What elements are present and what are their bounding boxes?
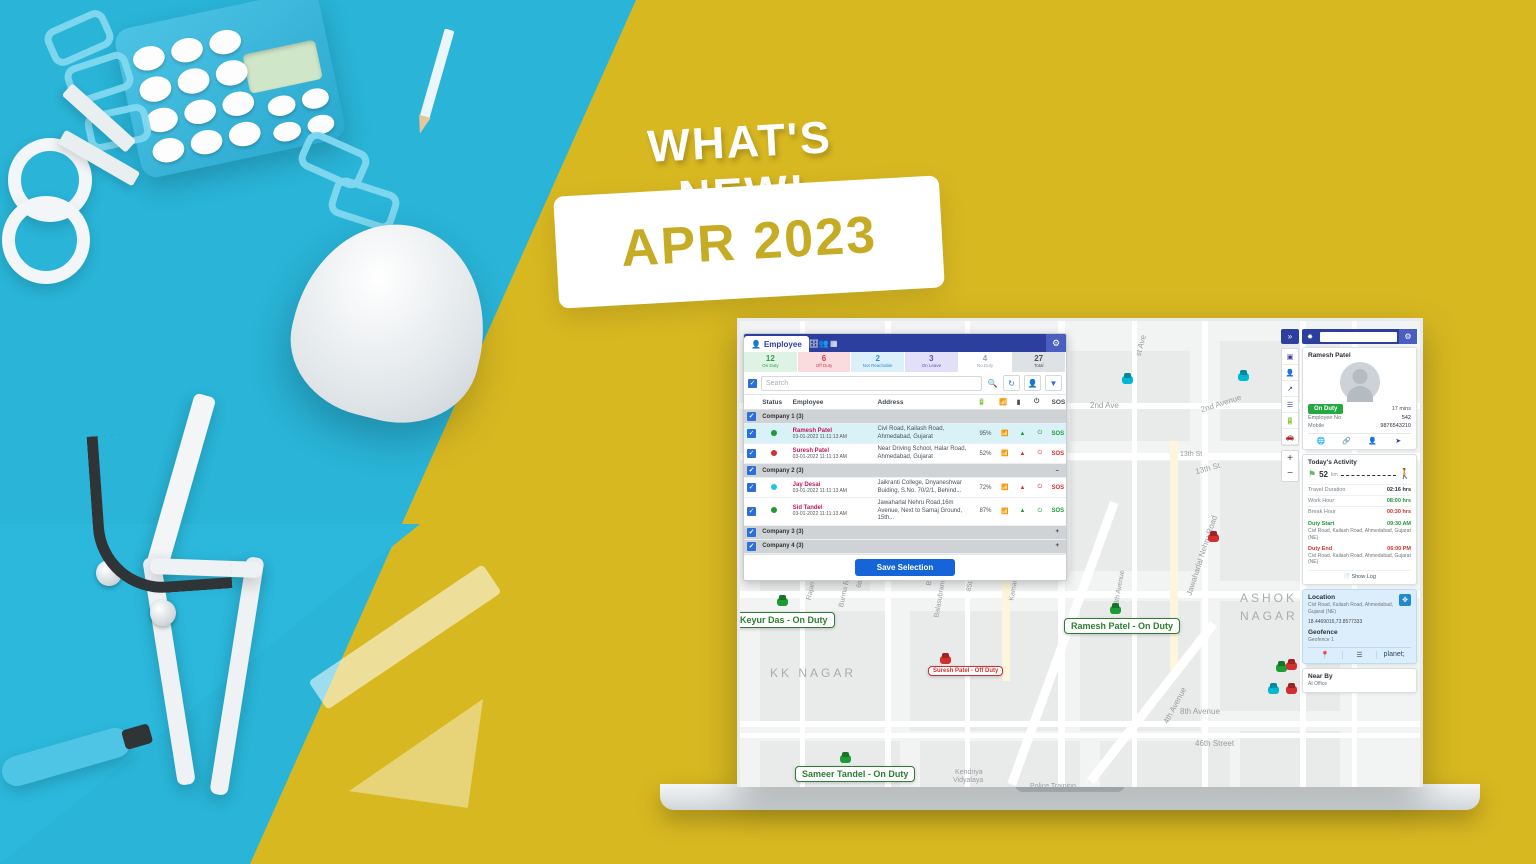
table-row[interactable]: ✓Sid Tandel03-01-2022 11:11:13 AMJawahar… bbox=[744, 498, 1066, 526]
status-time: 17 mins bbox=[1392, 406, 1411, 412]
duty-end-label: Duty End bbox=[1308, 546, 1332, 552]
gear-icon[interactable]: ⚙ bbox=[1046, 334, 1066, 352]
month-label: APR 2023 bbox=[553, 175, 945, 308]
table-row[interactable]: ✓Jay Desai03-01-2022 11:11:13 AMJaikrant… bbox=[744, 478, 1066, 498]
move-icon[interactable]: ✥ bbox=[1399, 594, 1411, 606]
employee-cell: Jay Desai03-01-2022 11:11:13 AM bbox=[790, 478, 875, 498]
duty-start-time: 09:30 AM bbox=[1387, 521, 1411, 527]
group-toggle-icon[interactable] bbox=[1049, 410, 1066, 424]
address-cell: Jaikranti College, Dnyaneshwar Buiding, … bbox=[875, 478, 975, 498]
duty-start-label: Duty Start bbox=[1308, 521, 1334, 527]
promo-banner: WHAT'S NEW! APR 2023 2nd Ave2nd Avenue13… bbox=[0, 0, 1536, 864]
wifi-icon: 📶 bbox=[996, 498, 1013, 526]
employee-name: Ramesh Patel bbox=[1308, 352, 1411, 359]
walking-icon: 🚶 bbox=[1399, 469, 1411, 480]
stat-label: Not Reachable bbox=[863, 364, 893, 369]
geofence-value: Geofence 1 bbox=[1308, 637, 1411, 644]
stat-label: On Leave bbox=[922, 364, 942, 369]
employee-table: Status Employee Address 🔋 📶 ▮ ⏻ SOS ✓Com… bbox=[744, 395, 1066, 554]
status-stat-0[interactable]: 12On Duty bbox=[744, 352, 798, 372]
wifi-icon: 📶 bbox=[996, 478, 1013, 498]
field-value: 542 bbox=[1402, 415, 1411, 421]
map-street-label: 46th Street bbox=[1195, 739, 1234, 748]
table-group-row[interactable]: ✓Company 2 (3)– bbox=[744, 464, 1066, 478]
row-checkbox[interactable]: ✓ bbox=[744, 424, 759, 444]
show-log-button[interactable]: 📄 Show Log bbox=[1308, 570, 1411, 580]
duty-end-header: Duty End 06:00 PM bbox=[1308, 546, 1411, 552]
group-checkbox[interactable]: ✓ bbox=[744, 410, 759, 424]
employee-cell: Sid Tandel03-01-2022 11:11:13 AM bbox=[790, 498, 875, 526]
geofence-title: Geofence bbox=[1308, 629, 1411, 636]
status-dot bbox=[759, 498, 789, 526]
status-stat-4[interactable]: 4No Duty bbox=[959, 352, 1013, 372]
refresh-icon[interactable]: ↻ bbox=[1003, 375, 1020, 391]
nearby-title: Near By bbox=[1308, 673, 1411, 680]
location-card: ✥ Location Civl Road, Kailash Road, Ahme… bbox=[1302, 589, 1417, 664]
duty-start-header: Duty Start 09:30 AM bbox=[1308, 521, 1411, 527]
th-address: Address bbox=[875, 395, 975, 410]
vehicle-marker[interactable] bbox=[1122, 376, 1133, 384]
metric-2: Break Hour00:30 hrs bbox=[1308, 506, 1411, 517]
employee-detail-sidebar: Ramesh Patel On Duty 17 mins Employee No… bbox=[1302, 347, 1417, 697]
status-dot bbox=[759, 478, 789, 498]
status-badge: On Duty bbox=[1308, 404, 1343, 414]
row-checkbox[interactable]: ✓ bbox=[744, 478, 759, 498]
metric-value: 08:00 hrs bbox=[1387, 498, 1411, 504]
stat-count: 3 bbox=[929, 355, 933, 363]
battery-icon: 🔋 bbox=[975, 395, 997, 410]
battery-value: 87% bbox=[975, 498, 997, 526]
group-checkbox[interactable]: ✓ bbox=[744, 464, 759, 478]
field-mobile: Mobile 9876543210 bbox=[1308, 422, 1411, 430]
globe-icon[interactable]: 🌐 bbox=[1308, 437, 1334, 445]
map-employee-tag[interactable]: Suresh Patel - Off Duty bbox=[928, 666, 1003, 676]
laptop-screen: 2nd Ave2nd Avenue13th StSDAT CricketGrou… bbox=[737, 318, 1423, 787]
map-street-label: Kendriya bbox=[955, 769, 983, 776]
route-icon[interactable]: ↗ bbox=[1282, 381, 1298, 397]
chevron-double-right-icon[interactable]: » bbox=[1281, 329, 1299, 344]
map-employee-tag[interactable]: Keyur Das - On Duty bbox=[737, 612, 835, 628]
panel-icon[interactable]: ▣ bbox=[1282, 349, 1298, 365]
group-icon[interactable]: 👥 bbox=[819, 334, 829, 352]
employee-panel: 👤 Employee 🗄 👥 ▦ ⚙ 12On Duty6Off Duty2No… bbox=[743, 333, 1067, 581]
zoom-controls: + − bbox=[1281, 450, 1299, 482]
power-icon[interactable]: ⏻ bbox=[1031, 478, 1048, 498]
map-street-label: Vidyalaya bbox=[953, 777, 983, 784]
field-label: Employee No bbox=[1308, 415, 1341, 421]
person-icon: 👤 bbox=[751, 340, 761, 349]
sidebar-logo-icon: ✸ bbox=[1302, 333, 1318, 341]
status-stat-2[interactable]: 2Not Reachable bbox=[851, 352, 905, 372]
row-checkbox[interactable]: ✓ bbox=[744, 444, 759, 464]
signal-icon: ▲ bbox=[1014, 424, 1031, 444]
map-shape bbox=[740, 733, 1420, 738]
th-sos: SOS bbox=[1049, 395, 1066, 410]
battery-value: 72% bbox=[975, 478, 997, 498]
table-group-row[interactable]: ✓Company 3 (3)+ bbox=[744, 525, 1066, 539]
wifi-icon: 📶 bbox=[996, 424, 1013, 444]
person-pin-icon[interactable]: 👤 bbox=[1282, 365, 1298, 381]
battery-value: 52% bbox=[975, 444, 997, 464]
wifi-icon: 📶 bbox=[996, 444, 1013, 464]
status-summary-bar: 12On Duty6Off Duty2Not Reachable3On Leav… bbox=[744, 352, 1066, 372]
map-employee-tag[interactable]: Ramesh Patel - On Duty bbox=[1064, 618, 1180, 634]
signal-icon: ▲ bbox=[1014, 498, 1031, 526]
stat-count: 6 bbox=[822, 355, 826, 363]
power-icon[interactable]: ⏻ bbox=[1031, 444, 1048, 464]
duty-end-time: 06:00 PM bbox=[1387, 546, 1411, 552]
share-icon[interactable]: 🔗 bbox=[1334, 437, 1360, 445]
map-shape bbox=[1240, 731, 1340, 787]
power-icon[interactable]: ⏻ bbox=[1031, 424, 1048, 444]
address-cell: Near Driving School, Halar Road, Ahmedab… bbox=[875, 444, 975, 464]
lamp-screw bbox=[150, 600, 176, 626]
sos-button[interactable]: SOS bbox=[1049, 498, 1066, 526]
duty-end-address: Civl Road, Kailash Road, Ahmedabad, Guja… bbox=[1308, 553, 1411, 567]
document-icon: 📄 bbox=[1343, 574, 1350, 580]
map-street-label: ASHOK bbox=[1240, 591, 1297, 605]
sos-button[interactable]: SOS bbox=[1049, 478, 1066, 498]
zoom-out-button[interactable]: − bbox=[1282, 466, 1298, 481]
table-row[interactable]: ✓Suresh Patel03-01-2022 11:11:13 AMNear … bbox=[744, 444, 1066, 464]
distance-row: ⚑ 52 km 🚶 bbox=[1308, 469, 1411, 480]
person-icon[interactable]: 👤 bbox=[1360, 437, 1386, 445]
map-shape bbox=[1070, 351, 1190, 441]
group-checkbox[interactable]: ✓ bbox=[744, 539, 759, 553]
save-selection-button[interactable]: Save Selection bbox=[855, 559, 955, 576]
map-shape bbox=[740, 721, 1420, 727]
avatar bbox=[1340, 362, 1380, 402]
th-employee: Employee bbox=[790, 395, 875, 410]
map-street-label: 8th Avenue bbox=[1180, 707, 1220, 716]
filter-icon[interactable]: ▼ bbox=[1045, 375, 1062, 391]
status-dot bbox=[759, 444, 789, 464]
status-stat-1[interactable]: 6Off Duty bbox=[798, 352, 852, 372]
pin-icon[interactable]: 📍 bbox=[1308, 651, 1343, 659]
metric-0: Travel Duration02:16 hrs bbox=[1308, 484, 1411, 495]
grid-icon[interactable]: ▦ bbox=[829, 334, 839, 352]
show-log-label: Show Log bbox=[1351, 574, 1375, 580]
stat-label: Total bbox=[1034, 364, 1044, 369]
status-dot bbox=[759, 424, 789, 444]
tab-employee-label: Employee bbox=[764, 340, 802, 349]
cluster-icon[interactable]: ☰ bbox=[1282, 397, 1298, 413]
th-status: Status bbox=[759, 395, 789, 410]
building-icon[interactable]: 🗄 bbox=[809, 334, 819, 352]
battery-icon[interactable]: 🔋 bbox=[1282, 413, 1298, 429]
wifi-icon: 📶 bbox=[996, 395, 1013, 410]
location-address: Civl Road, Kailash Road, Ahmedabad, Guja… bbox=[1308, 602, 1411, 616]
metric-label: Break Hour bbox=[1308, 509, 1336, 515]
map-street-label: Police Training bbox=[1030, 783, 1076, 787]
map-shape bbox=[1170, 441, 1178, 671]
address-cell: Jawaharlal Nehru Road,16m Avenue, Next t… bbox=[875, 498, 975, 526]
map-street-label: 13th St bbox=[1180, 451, 1202, 458]
metric-1: Work Hour08:00 hrs bbox=[1308, 495, 1411, 506]
group-label: Company 1 (3) bbox=[759, 410, 1048, 424]
status-stat-5[interactable]: 27Total bbox=[1012, 352, 1066, 372]
save-bar: Save Selection bbox=[744, 554, 1066, 580]
vehicle-marker[interactable] bbox=[1268, 686, 1279, 694]
group-label: Company 3 (3) bbox=[759, 525, 1048, 539]
activity-progress-line bbox=[1341, 474, 1396, 476]
location-button-row: 📍 ☰ planet; bbox=[1308, 647, 1411, 659]
location-title: Location bbox=[1308, 594, 1411, 601]
map-street-label: 2nd Ave bbox=[1090, 401, 1119, 410]
group-toggle-icon[interactable]: + bbox=[1049, 539, 1066, 553]
laptop-base bbox=[660, 784, 1480, 810]
table-header-row: Status Employee Address 🔋 📶 ▮ ⏻ SOS bbox=[744, 395, 1066, 410]
vehicle-marker[interactable] bbox=[777, 598, 788, 606]
stat-count: 27 bbox=[1034, 355, 1043, 363]
layers-icon[interactable]: ☰ bbox=[1343, 651, 1378, 659]
search-icon[interactable]: 🔍 bbox=[986, 377, 999, 390]
todays-activity-card: Today's Activity ⚑ 52 km 🚶 Travel Durati… bbox=[1302, 454, 1417, 585]
field-employee-no: Employee No 542 bbox=[1308, 414, 1411, 422]
nearby-value: At Office bbox=[1308, 681, 1411, 688]
add-user-icon[interactable]: 👤 bbox=[1024, 375, 1041, 391]
stat-count: 2 bbox=[875, 355, 879, 363]
navigate-icon[interactable]: ➤ bbox=[1385, 437, 1411, 445]
stat-label: Off Duty bbox=[816, 364, 832, 369]
stat-count: 4 bbox=[983, 355, 987, 363]
sos-button[interactable]: SOS bbox=[1049, 424, 1066, 444]
select-all-checkbox[interactable]: ✓ bbox=[748, 379, 757, 388]
row-checkbox[interactable]: ✓ bbox=[744, 498, 759, 526]
address-cell: Civl Road, Kailash Road, Ahmedabad, Guja… bbox=[875, 424, 975, 444]
sos-button[interactable]: SOS bbox=[1049, 444, 1066, 464]
history-icon[interactable]: planet; bbox=[1377, 651, 1411, 659]
map-street-label: NAGAR bbox=[1240, 609, 1298, 623]
search-input[interactable]: Search bbox=[761, 376, 982, 391]
signal-icon: ▲ bbox=[1014, 478, 1031, 498]
employee-cell: Ramesh Patel03-01-2022 11:11:13 AM bbox=[790, 424, 875, 444]
nearby-card: Near By At Office bbox=[1302, 668, 1417, 693]
vehicle-marker[interactable] bbox=[1238, 373, 1249, 381]
map-street-label: KK NAGAR bbox=[770, 666, 856, 680]
group-toggle-icon[interactable]: – bbox=[1049, 464, 1066, 478]
vehicle-marker[interactable] bbox=[1286, 662, 1297, 670]
battery-value: 95% bbox=[975, 424, 997, 444]
table-group-row[interactable]: ✓Company 4 (3)+ bbox=[744, 539, 1066, 553]
activity-title: Today's Activity bbox=[1308, 459, 1411, 466]
group-toggle-icon[interactable]: + bbox=[1049, 525, 1066, 539]
metric-label: Work Hour bbox=[1308, 498, 1334, 504]
duty-start-address: Civl Road, Kailash Road, Ahmedabad, Guja… bbox=[1308, 528, 1411, 542]
map-employee-tag[interactable]: Sameer Tandel - On Duty bbox=[795, 766, 915, 782]
vehicle-marker[interactable] bbox=[840, 755, 851, 763]
group-label: Company 4 (3) bbox=[759, 539, 1048, 553]
group-label: Company 2 (3) bbox=[759, 464, 1048, 478]
map-tool-rail: » ▣ 👤 ↗ ☰ 🔋 🚗 + − bbox=[1281, 329, 1299, 482]
metric-value: 02:16 hrs bbox=[1387, 487, 1411, 493]
stat-label: On Duty bbox=[762, 364, 779, 369]
vehicle-marker[interactable] bbox=[1110, 606, 1121, 614]
metric-label: Travel Duration bbox=[1308, 487, 1345, 493]
vehicle-marker[interactable] bbox=[940, 656, 951, 664]
month-card: APR 2023 bbox=[553, 175, 945, 308]
zoom-in-button[interactable]: + bbox=[1282, 451, 1298, 466]
stat-count: 12 bbox=[766, 355, 775, 363]
power-icon[interactable]: ⏻ bbox=[1031, 498, 1048, 526]
group-checkbox[interactable]: ✓ bbox=[744, 525, 759, 539]
set-square-prop bbox=[349, 682, 483, 808]
activity-metrics: Travel Duration02:16 hrsWork Hour08:00 h… bbox=[1308, 484, 1411, 517]
table-row[interactable]: ✓Ramesh Patel03-01-2022 11:11:13 AMCivl … bbox=[744, 424, 1066, 444]
th-select bbox=[744, 395, 759, 410]
rail-button-group: ▣ 👤 ↗ ☰ 🔋 🚗 bbox=[1281, 348, 1299, 446]
sidebar-topbar: ✸ ⚙ bbox=[1302, 329, 1417, 344]
power-icon: ⏻ bbox=[1031, 395, 1048, 410]
tab-employee[interactable]: 👤 Employee bbox=[744, 336, 809, 352]
status-stat-3[interactable]: 3On Leave bbox=[905, 352, 959, 372]
employee-profile-card: Ramesh Patel On Duty 17 mins Employee No… bbox=[1302, 347, 1417, 450]
vehicle-marker[interactable] bbox=[1208, 534, 1219, 542]
field-value: 9876543210 bbox=[1380, 423, 1411, 429]
profile-action-row: 🌐 🔗 👤 ➤ bbox=[1308, 433, 1411, 445]
field-label: Mobile bbox=[1308, 423, 1324, 429]
employee-cell: Suresh Patel03-01-2022 11:11:13 AM bbox=[790, 444, 875, 464]
location-coordinates: 18.4469016,73.8577333 bbox=[1308, 619, 1411, 625]
gear-icon[interactable]: ⚙ bbox=[1399, 329, 1417, 344]
signal-icon: ▮ bbox=[1014, 395, 1031, 410]
flag-icon: ⚑ bbox=[1308, 469, 1316, 480]
table-group-row[interactable]: ✓Company 1 (3) bbox=[744, 410, 1066, 424]
employee-tabs: 👤 Employee 🗄 👥 ▦ ⚙ bbox=[744, 334, 1066, 352]
signal-icon: ▲ bbox=[1014, 444, 1031, 464]
metric-value: 00:30 hrs bbox=[1387, 509, 1411, 515]
map-shape bbox=[920, 741, 1080, 787]
stat-label: No Duty bbox=[977, 364, 993, 369]
vehicle-marker[interactable] bbox=[1286, 686, 1297, 694]
sidebar-search-field[interactable] bbox=[1320, 332, 1397, 342]
distance-value: 52 bbox=[1319, 470, 1328, 479]
search-toolbar: ✓ Search 🔍 ↻ 👤 ▼ bbox=[744, 372, 1066, 395]
car-icon[interactable]: 🚗 bbox=[1282, 429, 1298, 445]
distance-unit: km bbox=[1331, 472, 1338, 478]
